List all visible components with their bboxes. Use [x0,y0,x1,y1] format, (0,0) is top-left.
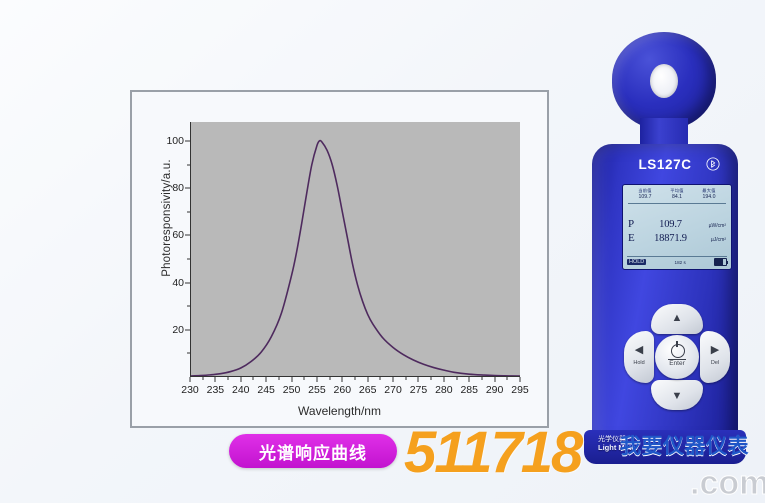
x-tick-mark [240,377,241,382]
x-tick-mark [418,377,419,382]
x-tick-label: 250 [283,384,301,396]
x-tick-label: 275 [410,384,428,396]
right-del-button[interactable]: ▶ Del [700,331,730,383]
x-tick-mark [393,377,394,382]
x-tick-label: 245 [257,384,275,396]
up-button[interactable]: ▲ [651,304,703,334]
x-tick-label: 285 [460,384,478,396]
del-label: Del [700,360,730,366]
y-tick-label: 100 [166,135,184,147]
x-minor-tick [253,377,254,380]
sensor-head [612,32,716,130]
x-tick-mark [215,377,216,382]
x-minor-tick [304,377,305,380]
x-minor-tick [405,377,406,380]
y-tick-mark [185,282,190,283]
y-tick-label: 60 [172,229,184,241]
lcd-power-symbol: P [628,218,641,230]
x-tick-label: 240 [232,384,250,396]
lcd-col0-value: 109.7 [629,194,661,201]
down-button[interactable]: ▼ [651,380,703,410]
lcd-row-power: P 109.7 µW/cm² [627,218,727,230]
x-tick-mark [367,377,368,382]
x-tick-label: 230 [181,384,199,396]
y-axis-line [190,122,191,377]
chart-inner: Photoresponsivity/a.u. 20406080100230235… [132,92,547,426]
caption-badge: 光谱响应曲线 [229,434,397,468]
x-tick-label: 280 [435,384,453,396]
lcd-timer-value: 182 s [675,260,686,265]
device-body: LS127C 当前值 109.7 平均值 84.1 最大值 194.0 [592,144,738,444]
x-tick-label: 260 [334,384,352,396]
x-tick-mark [190,377,191,382]
x-tick-mark [520,377,521,382]
enter-label: Enter [655,360,699,367]
lcd-power-unit: µW/cm² [700,223,726,229]
keypad: ▲ ▼ ◀ Hold ▶ Del Enter [624,304,730,410]
y-tick-label: 20 [172,324,184,336]
lcd-column-max: 最大值 194.0 [693,188,725,201]
light-meter-device: LS127C 当前值 109.7 平均值 84.1 最大值 194.0 [568,18,758,458]
x-tick-mark [342,377,343,382]
sensor-aperture [650,64,678,98]
chevron-left-icon: ◀ [624,345,654,356]
power-enter-button[interactable]: Enter [655,335,699,379]
y-tick-mark [185,235,190,236]
left-hold-button[interactable]: ◀ Hold [624,331,654,383]
hold-label: Hold [624,360,654,366]
x-tick-label: 295 [511,384,529,396]
power-icon [671,344,685,358]
battery-icon [714,258,727,266]
y-minor-tick [187,211,190,212]
lcd-row-energy: E 18871.9 µJ/cm² [627,232,727,244]
plot-area: 2040608010023023524024525025526026527027… [190,122,520,377]
y-tick-label: 80 [172,182,184,194]
response-curve-svg [190,122,520,377]
x-minor-tick [431,377,432,380]
lcd-col2-value: 194.0 [693,194,725,201]
x-minor-tick [355,377,356,380]
y-minor-tick [187,164,190,165]
x-tick-mark [443,377,444,382]
x-minor-tick [380,377,381,380]
lcd-column-average: 平均值 84.1 [661,188,693,201]
x-tick-mark [266,377,267,382]
bluetooth-icon [706,157,720,171]
chevron-up-icon: ▲ [651,313,703,324]
watermark-chinese: 我要仪器仪表 [620,430,749,460]
lcd-col1-value: 84.1 [661,194,693,201]
response-curve-path [190,141,520,376]
y-tick-mark [185,188,190,189]
lcd-summary-row: 当前值 109.7 平均值 84.1 最大值 194.0 [627,188,727,201]
x-minor-tick [481,377,482,380]
x-tick-mark [291,377,292,382]
x-minor-tick [329,377,330,380]
lcd-energy-value: 18871.9 [641,233,700,244]
x-minor-tick [456,377,457,380]
lcd-display: 当前值 109.7 平均值 84.1 最大值 194.0 P 109.7 µW/… [622,184,732,270]
x-tick-label: 265 [359,384,377,396]
x-tick-mark [316,377,317,382]
y-minor-tick [187,258,190,259]
y-tick-mark [185,329,190,330]
x-minor-tick [228,377,229,380]
lcd-energy-symbol: E [628,232,641,244]
y-tick-label: 40 [172,277,184,289]
lcd-energy-unit: µJ/cm² [700,237,726,243]
x-tick-label: 270 [384,384,402,396]
lcd-divider [628,203,726,204]
chevron-right-icon: ▶ [700,345,730,356]
lcd-hold-indicator: HOLD [627,259,646,265]
x-tick-label: 255 [308,384,326,396]
spectral-response-chart-card: Photoresponsivity/a.u. 20406080100230235… [130,90,549,428]
x-minor-tick [202,377,203,380]
x-tick-label: 235 [207,384,225,396]
y-axis-label: Photoresponsivity/a.u. [161,128,173,308]
chevron-down-icon: ▼ [651,391,703,402]
x-tick-mark [469,377,470,382]
x-minor-tick [278,377,279,380]
watermark-number: 511718 [404,424,581,482]
lcd-status-bar: HOLD 182 s [627,256,727,266]
x-axis-label: Wavelength/nm [132,404,547,418]
watermark-dotcom: .com [690,466,765,500]
x-tick-label: 290 [486,384,504,396]
lcd-power-value: 109.7 [641,219,700,230]
x-tick-mark [494,377,495,382]
y-minor-tick [187,306,190,307]
y-tick-mark [185,140,190,141]
lcd-column-current: 当前值 109.7 [629,188,661,201]
x-minor-tick [507,377,508,380]
y-minor-tick [187,353,190,354]
lcd-main-readouts: P 109.7 µW/cm² E 18871.9 µJ/cm² [627,206,727,256]
